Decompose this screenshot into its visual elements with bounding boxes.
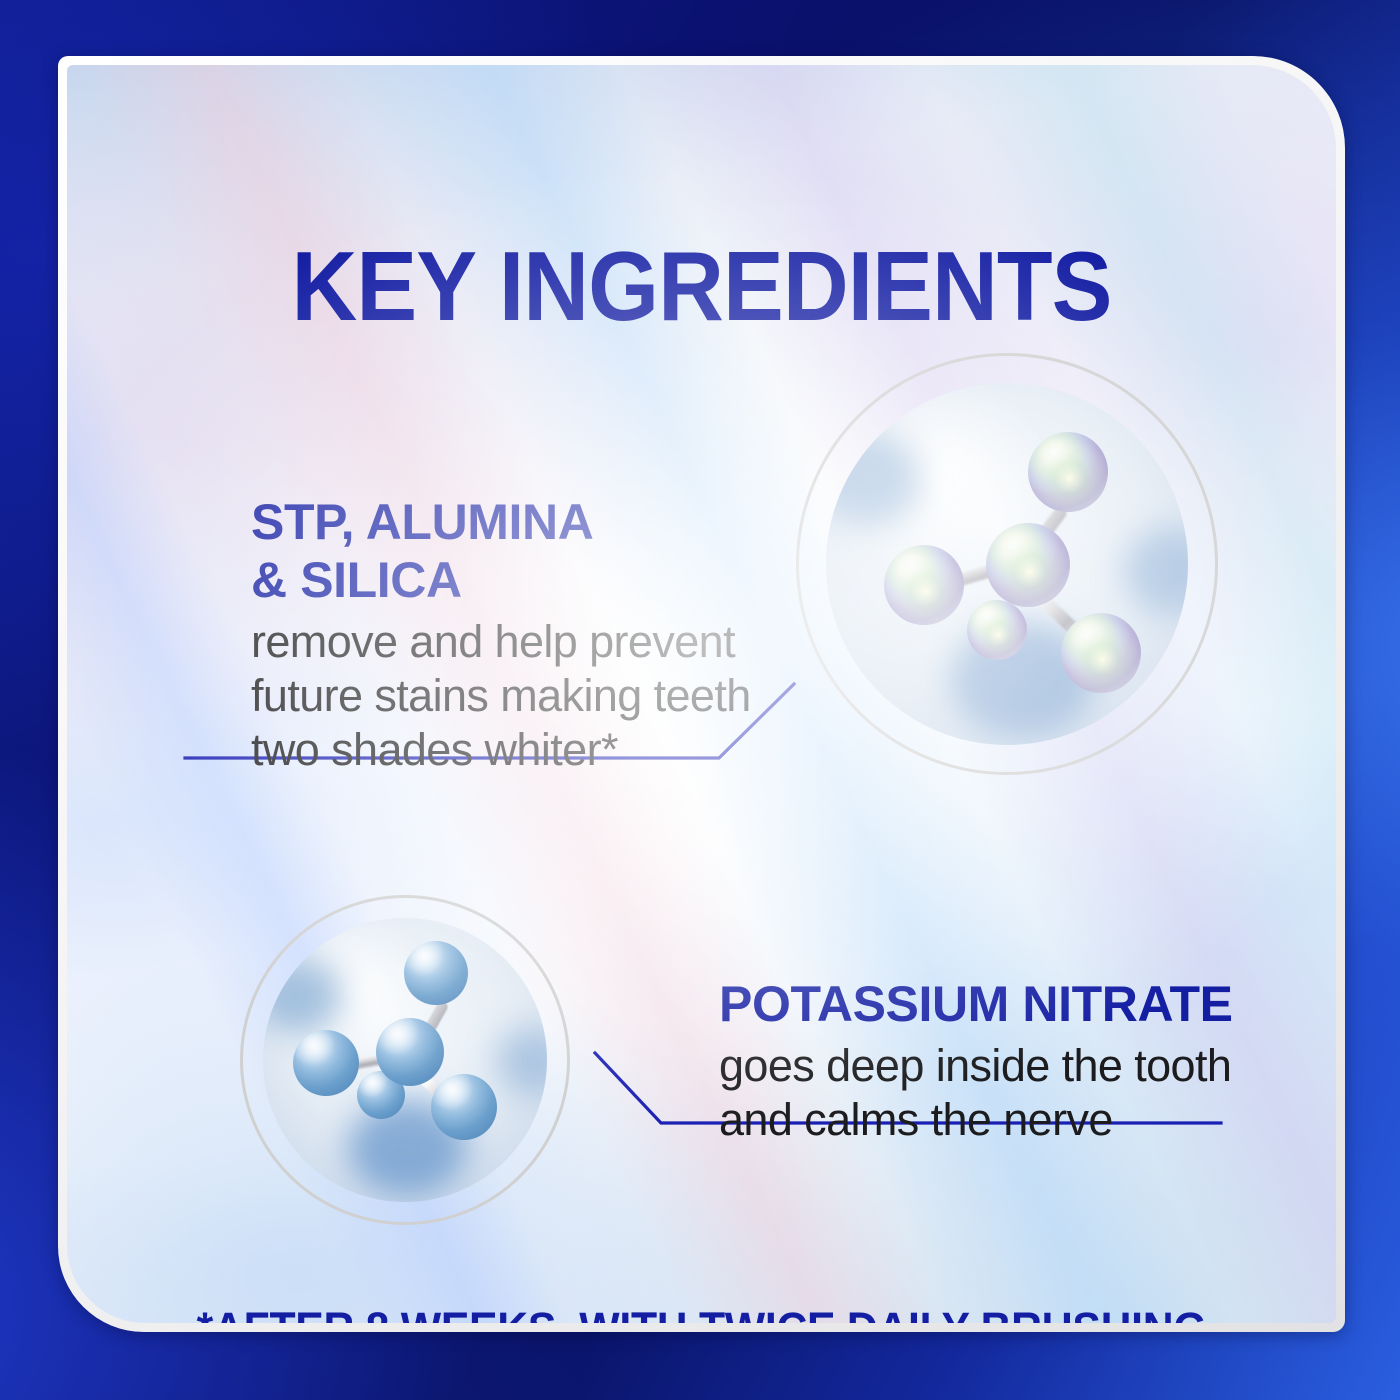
footnote-disclaimer: *AFTER 8 WEEKS, WITH TWICE DAILY BRUSHIN… — [99, 1303, 1305, 1323]
card-frame: KEY INGREDIENTS — [58, 56, 1345, 1332]
ingredient-heading-potassium-nitrate: POTASSIUM NITRATE — [719, 975, 1299, 1033]
card-surface: KEY INGREDIENTS — [67, 65, 1336, 1323]
ingredient-heading-line-1: STP, ALUMINA — [251, 494, 593, 550]
ingredient-heading-stp: STP, ALUMINA& SILICA — [251, 493, 811, 609]
ingredient-block-stp-alumina-silica: STP, ALUMINA& SILICA remove and help pre… — [251, 493, 811, 777]
ingredient-block-potassium-nitrate: POTASSIUM NITRATE goes deep inside the t… — [719, 975, 1299, 1147]
ingredient-body-potassium-nitrate: goes deep inside the tooth and calms the… — [719, 1039, 1299, 1147]
promo-image-root: KEY INGREDIENTS — [0, 0, 1400, 1400]
ingredient-body-stp: remove and help prevent future stains ma… — [251, 615, 811, 777]
ingredient-heading-line-2: & SILICA — [251, 552, 462, 608]
